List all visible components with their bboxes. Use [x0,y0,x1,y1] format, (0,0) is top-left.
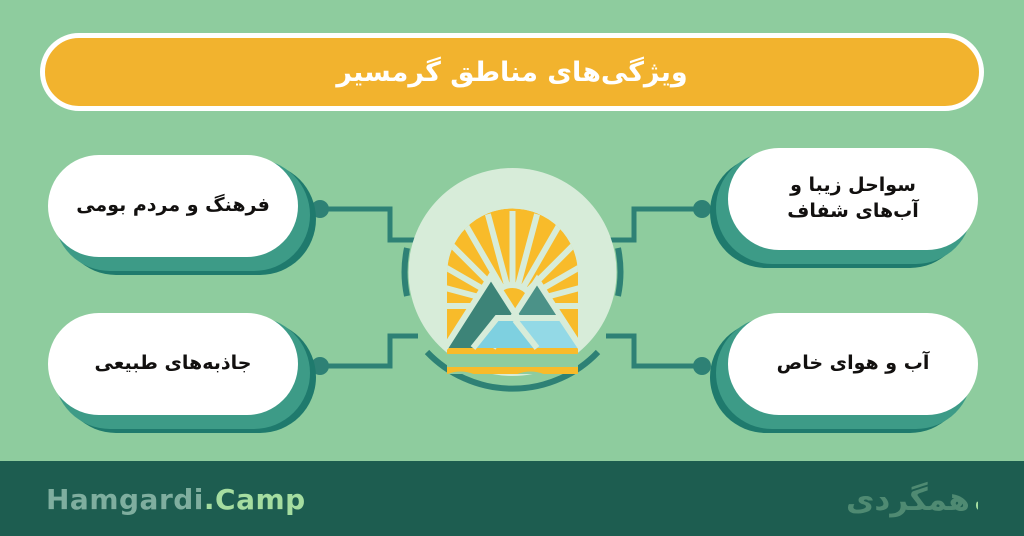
card-label: جاذبه‌های طبیعی [81,351,266,377]
center-emblem [385,148,640,396]
card-label: فرهنگ و مردم بومی [62,193,284,219]
connector-dot-topright [693,200,711,218]
brand-wordmark-latin[interactable]: Hamgardi.Camp [46,483,306,516]
card-face[interactable]: جاذبه‌های طبیعی [48,313,298,415]
card-face[interactable]: آب و هوای خاص [728,313,978,415]
feature-card-beaches[interactable]: سواحل زیبا و آب‌های شفاف [716,148,986,258]
card-label-line-1: سواحل زیبا و [790,174,916,196]
persian-logotype-svg: کمپینگ همگردی [678,477,978,523]
brand-persian-primary: همگردی [846,481,970,518]
card-label: سواحل زیبا و آب‌های شفاف [773,173,933,224]
card-label-line-2: آب‌های شفاف [787,200,919,222]
infographic-canvas: ویژگی‌های مناطق گرمسیر [0,0,1024,536]
feature-card-culture[interactable]: فرهنگ و مردم بومی [40,155,310,265]
brand-latin-primary: Hamgardi [46,483,204,516]
brand-latin-accent: .Camp [204,483,306,516]
footer-bar: Hamgardi.Camp کمپینگ همگردی [0,461,1024,536]
feature-card-nature[interactable]: جاذبه‌های طبیعی [40,313,310,423]
card-face[interactable]: فرهنگ و مردم بومی [48,155,298,257]
card-label: آب و هوای خاص [763,351,944,377]
card-face[interactable]: سواحل زیبا و آب‌های شفاف [728,148,978,250]
brand-wordmark-persian[interactable]: کمپینگ همگردی [678,477,978,527]
feature-card-climate[interactable]: آب و هوای خاص [716,313,986,423]
brand-persian-accent: کمپینگ [974,482,978,518]
connector-dot-bottomright [693,357,711,375]
